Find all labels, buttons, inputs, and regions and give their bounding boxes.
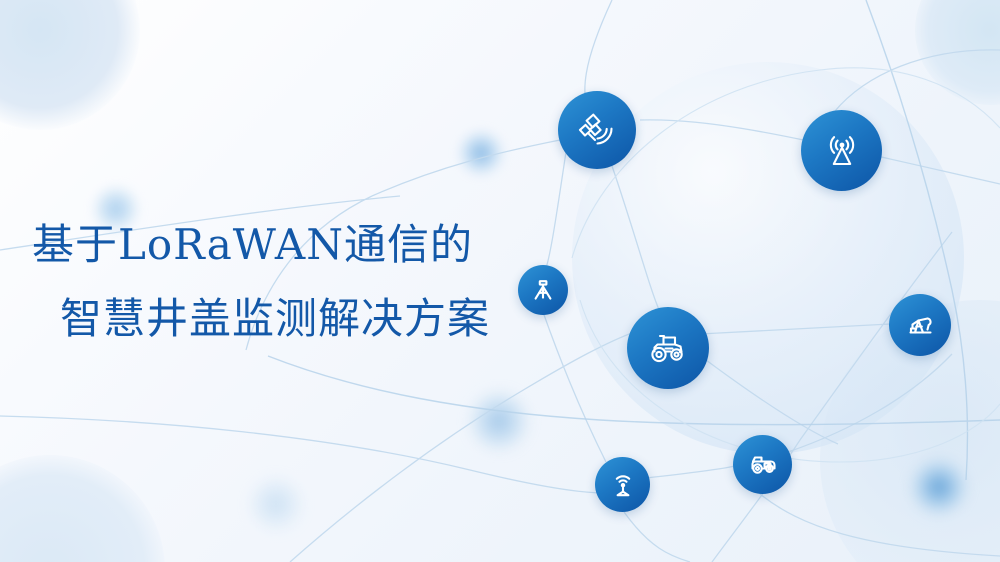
radio-tower-icon [821,130,863,172]
node-tower[interactable] [801,110,882,191]
page-title-line-2: 智慧井盖监测解决方案 [60,298,552,340]
wireless-sensor-icon [609,471,637,499]
blob-top-right [915,0,1000,105]
page-title-line-1: 基于LoRaWAN通信的 [32,224,552,266]
dot-upper-mid [458,130,504,176]
blob-top-left [0,0,140,130]
dot-bottom-left [248,476,304,532]
blob-bottom-left [0,455,165,562]
title-block: 基于LoRaWAN通信的 智慧井盖监测解决方案 [32,224,552,340]
node-vehicle[interactable] [733,435,792,494]
dot-mid-lower [468,390,530,452]
tractor-icon [646,326,690,370]
oil-pumpjack-icon [904,309,937,342]
node-oilpump[interactable] [889,294,951,356]
node-satellite[interactable] [558,91,636,169]
node-tractor[interactable] [627,307,709,389]
satellite-signal-icon [577,110,617,150]
rover-vehicle-icon [747,449,778,480]
dot-right-lower [910,458,968,516]
node-sensor[interactable] [595,457,650,512]
cover-slide: 基于LoRaWAN通信的 智慧井盖监测解决方案 [0,0,1000,562]
